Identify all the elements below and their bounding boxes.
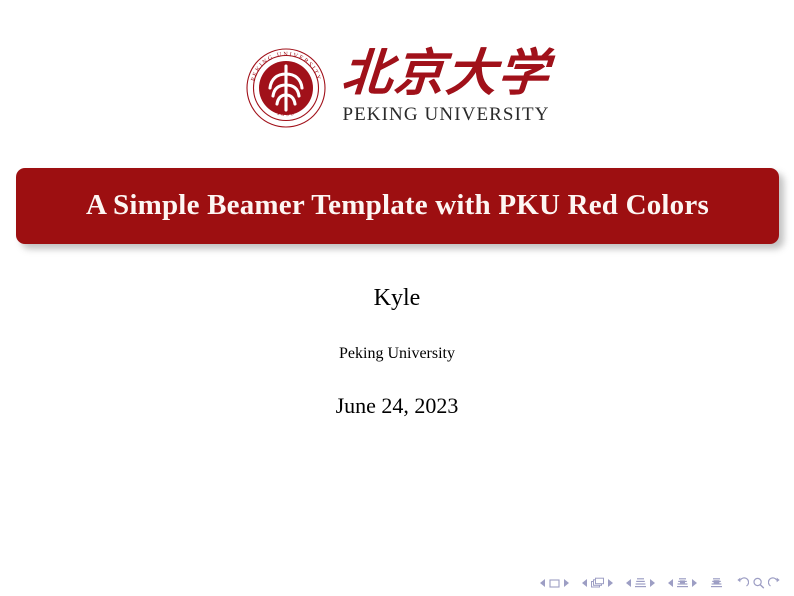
logo-chinese-name: 北京大学	[340, 48, 551, 98]
next-subsection-icon[interactable]	[650, 579, 655, 587]
previous-slide-icon[interactable]	[540, 579, 545, 587]
page-title: A Simple Beamer Template with PKU Red Co…	[86, 190, 709, 222]
beamer-title-slide: PEKING UNIVERSITY 1898	[0, 0, 794, 596]
document-icon[interactable]	[710, 577, 723, 589]
slide-navigation-group[interactable]	[540, 578, 569, 589]
logo-english-name: PEKING UNIVERSITY	[342, 105, 549, 124]
peking-university-seal-icon: PEKING UNIVERSITY 1898	[244, 46, 328, 130]
forward-icon[interactable]	[768, 577, 781, 589]
subsection-navigation-group[interactable]	[626, 577, 655, 589]
next-slide-icon[interactable]	[564, 579, 569, 587]
next-section-icon[interactable]	[692, 579, 697, 587]
presentation-date: June 24, 2023	[0, 393, 794, 419]
section-icon[interactable]	[676, 577, 689, 589]
search-icon[interactable]	[752, 577, 765, 589]
stacked-slides-icon[interactable]	[590, 577, 605, 589]
author-name: Kyle	[0, 284, 794, 313]
section-navigation-group[interactable]	[668, 577, 697, 589]
previous-section-icon[interactable]	[668, 579, 673, 587]
beamer-navigation-bar[interactable]	[540, 577, 781, 589]
subsection-icon[interactable]	[634, 577, 647, 589]
presentation-start-group[interactable]	[710, 577, 723, 589]
institute-name: Peking University	[0, 344, 794, 363]
title-metadata: Kyle Peking University June 24, 2023	[0, 284, 794, 419]
previous-frame-icon[interactable]	[582, 579, 587, 587]
logo-inner: PEKING UNIVERSITY 1898	[244, 46, 550, 130]
logo-wordmark: 北京大学 PEKING UNIVERSITY	[342, 46, 550, 124]
back-icon[interactable]	[736, 577, 749, 589]
history-controls-group[interactable]	[736, 577, 781, 589]
single-slide-icon[interactable]	[548, 578, 561, 589]
previous-subsection-icon[interactable]	[626, 579, 631, 587]
title-banner: A Simple Beamer Template with PKU Red Co…	[16, 168, 779, 244]
university-logo: PEKING UNIVERSITY 1898	[0, 46, 794, 130]
next-frame-icon[interactable]	[608, 579, 613, 587]
frame-navigation-group[interactable]	[582, 577, 613, 589]
